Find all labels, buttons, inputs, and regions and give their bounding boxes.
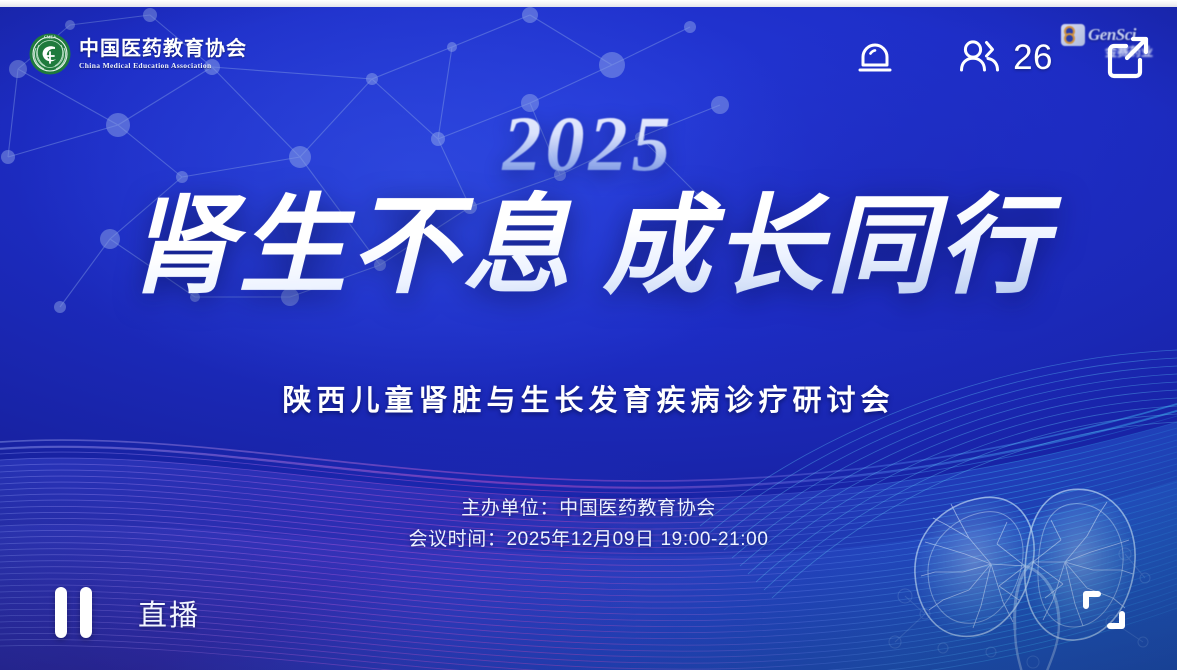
share-button[interactable]: GenSci 金赛药业 (1097, 26, 1159, 88)
poster-organizer: 主办单位：中国医药教育协会 (0, 494, 1177, 525)
poster-subtitle: 陕西儿童肾脏与生长发育疾病诊疗研讨会 (0, 377, 1177, 419)
viewer-count-value: 26 (1013, 40, 1053, 75)
browser-chrome-strip (0, 0, 1177, 7)
poster-headline: 肾生不息成长同行 (0, 190, 1177, 303)
headline-left: 肾生不息 (126, 183, 574, 309)
cmea-seal-icon: CMEA (28, 32, 72, 76)
live-stream-player: 2025 肾生不息成长同行 陕西儿童肾脏与生长发育疾病诊疗研讨会 主办单位：中国… (0, 0, 1177, 670)
poster-schedule: 会议时间：2025年12月09日 19:00-21:00 (0, 525, 1177, 556)
player-bottom-bar: 直播 (55, 587, 200, 638)
pause-bar-left (55, 587, 67, 638)
share-external-link-icon (1100, 29, 1156, 85)
association-name-en: China Medical Education Association (79, 61, 247, 70)
poster-meta: 主办单位：中国医药教育协会 会议时间：2025年12月09日 19:00-21:… (0, 494, 1177, 556)
association-logo: CMEA 中国医药教育协会 China Medical Education As… (28, 32, 247, 76)
fullscreen-corners-icon (1076, 582, 1132, 638)
stream-video-poster[interactable]: 2025 肾生不息成长同行 陕西儿童肾脏与生长发育疾病诊疗研讨会 主办单位：中国… (0, 7, 1177, 670)
people-group-icon (956, 37, 1002, 77)
svg-text:CMEA: CMEA (44, 35, 56, 40)
association-name-cn: 中国医药教育协会 (79, 38, 247, 59)
siren-alarm-icon (851, 33, 899, 81)
alarm-report-button[interactable] (844, 26, 906, 88)
live-status-label[interactable]: 直播 (138, 592, 200, 634)
poster-year: 2025 (0, 99, 1177, 189)
gensci-badge-icon (1061, 24, 1085, 46)
fullscreen-button[interactable] (1076, 582, 1132, 638)
headline-right: 成长同行 (603, 183, 1051, 309)
player-top-bar: 26 GenSci 金赛药业 (844, 26, 1159, 88)
viewer-count-group[interactable]: 26 (956, 37, 1053, 77)
pause-bar-right (80, 587, 92, 638)
pause-button[interactable] (55, 587, 92, 638)
